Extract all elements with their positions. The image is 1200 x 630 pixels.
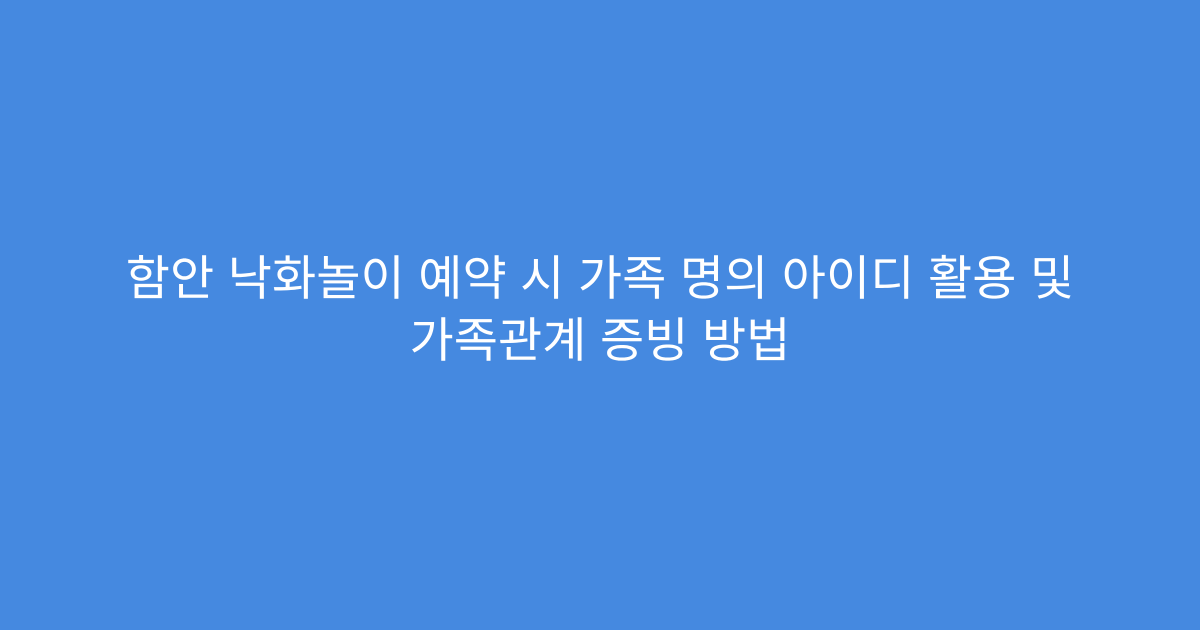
page-title: 함안 낙화놀이 예약 시 가족 명의 아이디 활용 및 가족관계 증빙 방법 — [126, 249, 1074, 373]
banner-content: 함안 낙화놀이 예약 시 가족 명의 아이디 활용 및 가족관계 증빙 방법 — [50, 249, 1150, 373]
banner-card: 함안 낙화놀이 예약 시 가족 명의 아이디 활용 및 가족관계 증빙 방법 — [0, 0, 1200, 630]
